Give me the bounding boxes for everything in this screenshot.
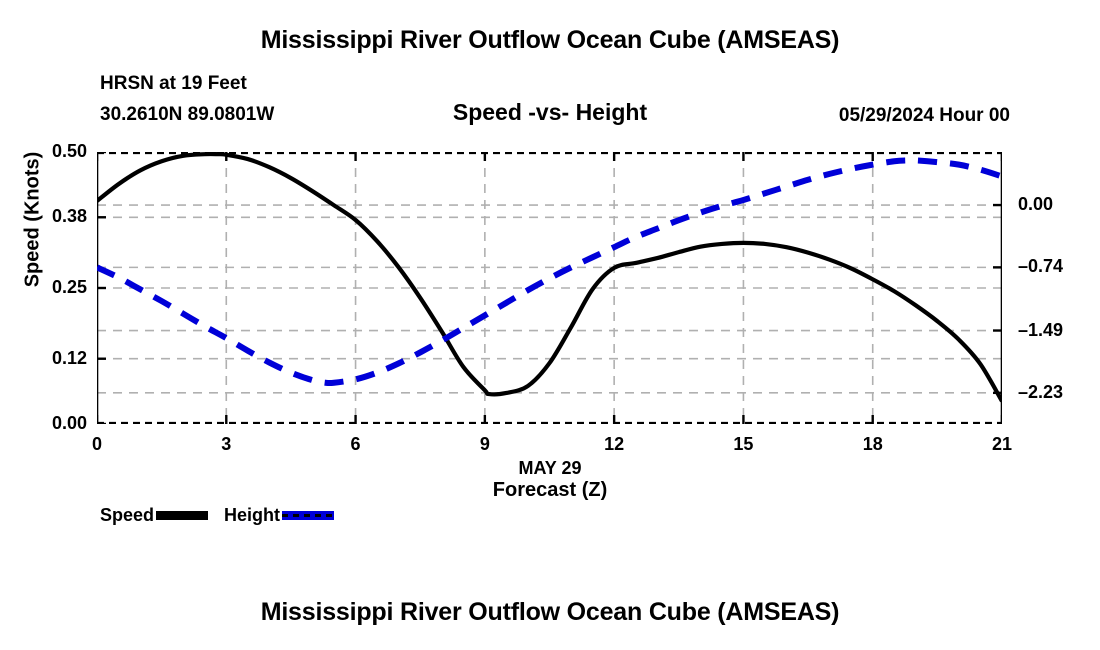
y-tick-left-0.12: 0.12 <box>25 348 87 369</box>
x-tick-0: 0 <box>77 434 117 455</box>
x-tick-15: 15 <box>723 434 763 455</box>
x-tick-6: 6 <box>336 434 376 455</box>
x-tick-18: 18 <box>853 434 893 455</box>
legend-swatch-speed-icon <box>156 511 208 520</box>
y-tick-left-0.00: 0.00 <box>25 413 87 434</box>
legend-swatch-height-icon <box>282 511 334 520</box>
legend-item-height: Height <box>224 505 334 526</box>
legend-label-speed: Speed <box>100 505 154 526</box>
x-tick-3: 3 <box>206 434 246 455</box>
x-tick-21: 21 <box>982 434 1022 455</box>
bottom-title: Mississippi River Outflow Ocean Cube (AM… <box>0 598 1100 627</box>
x-tick-9: 9 <box>465 434 505 455</box>
x-axis-date-label: MAY 29 <box>0 458 1100 479</box>
y-axis-label-left: Speed (Knots) <box>22 100 45 340</box>
y-tick-right-2: –0.74 <box>1018 256 1088 277</box>
chart-page: Mississippi River Outflow Ocean Cube (AM… <box>0 0 1100 650</box>
tick-label-layer: 0.000.120.250.380.50–2.23–1.49–0.740.000… <box>0 0 1100 650</box>
y-tick-right-1: –1.49 <box>1018 320 1088 341</box>
y-tick-right-3: 0.00 <box>1018 194 1088 215</box>
x-tick-12: 12 <box>594 434 634 455</box>
x-axis-label: Forecast (Z) <box>0 479 1100 502</box>
legend-label-height: Height <box>224 505 280 526</box>
legend-item-speed: Speed <box>100 505 208 526</box>
chart-legend: Speed Height <box>100 505 334 526</box>
y-tick-right-0: –2.23 <box>1018 382 1088 403</box>
